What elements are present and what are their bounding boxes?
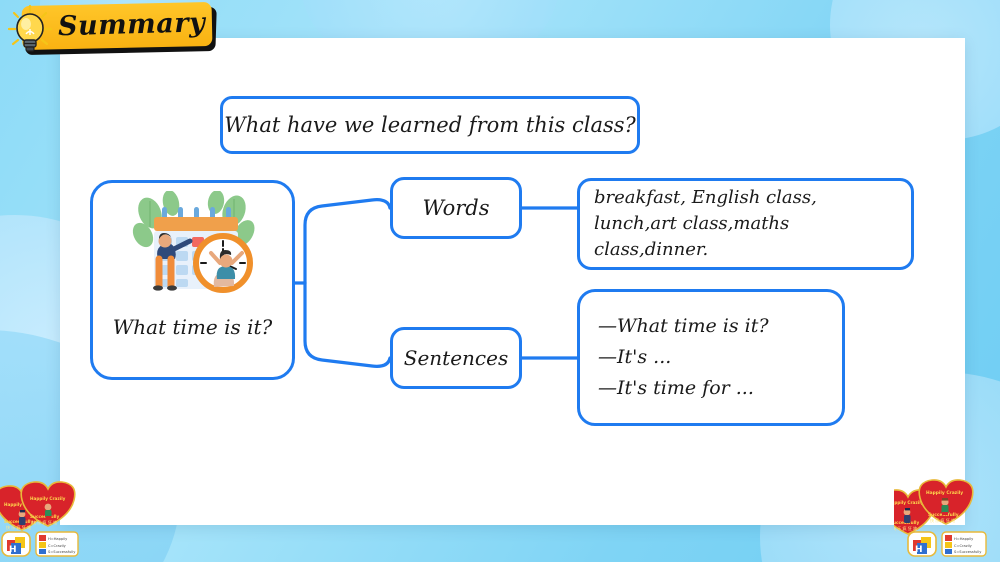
svg-text:快 乐 疯 狂 地: 快 乐 疯 狂 地: [6, 524, 31, 530]
svg-text:Happily Crazily: Happily Crazily: [30, 496, 66, 501]
lightbulb-icon: [6, 4, 54, 56]
branch-sentences-box: Sentences: [390, 327, 522, 389]
words-content-box: breakfast, English class, lunch,art clas…: [577, 178, 914, 270]
badge-cluster-right: Happily Crazily Successfully 快 乐 疯 狂 地 H…: [894, 470, 1000, 562]
sentence-line-3: —It's time for ...: [598, 373, 754, 404]
svg-text:H: H: [9, 545, 17, 555]
topic-box: What time is it?: [90, 180, 295, 380]
svg-text:H=Happily: H=Happily: [48, 537, 68, 541]
title-question-box: What have we learned from this class?: [220, 96, 640, 154]
branch-sentences-label: Sentences: [404, 346, 508, 370]
svg-text:Successfully: Successfully: [4, 519, 33, 524]
words-line-1: breakfast, English class,: [594, 185, 817, 211]
sentence-line-1: —What time is it?: [598, 311, 769, 342]
svg-text:C=Crazily: C=Crazily: [48, 544, 67, 548]
branch-words-label: Words: [422, 196, 489, 220]
svg-text:H: H: [915, 545, 923, 555]
svg-text:S=Successfully: S=Successfully: [48, 550, 76, 554]
svg-text:S=Successfully: S=Successfully: [954, 550, 982, 554]
branch-words-box: Words: [390, 177, 522, 239]
summary-banner: Summary: [0, 0, 230, 60]
svg-text:Successfully: Successfully: [30, 514, 59, 519]
title-question-text: What have we learned from this class?: [224, 113, 636, 137]
svg-text:H=Happily: H=Happily: [954, 537, 974, 541]
sentence-line-2: —It's ...: [598, 342, 671, 373]
calendar-clock-illustration: [118, 191, 268, 311]
svg-text:快 乐 疯 狂 地: 快 乐 疯 狂 地: [930, 517, 955, 523]
svg-text:快 乐 疯 狂 地: 快 乐 疯 狂 地: [32, 519, 57, 525]
svg-text:Happily Crazily: Happily Crazily: [894, 500, 924, 505]
svg-text:C=Crazily: C=Crazily: [954, 544, 973, 548]
topic-label: What time is it?: [113, 315, 273, 339]
sentences-content-box: —What time is it? —It's ... —It's time f…: [577, 289, 845, 426]
svg-text:快 乐 疯 狂 地: 快 乐 疯 狂 地: [894, 525, 917, 531]
badge-cluster-left: Happily Crazily Successfully 快 乐 疯 狂 地 H…: [0, 470, 102, 562]
banner-title: Summary: [58, 7, 229, 42]
svg-text:Happily Crazily: Happily Crazily: [926, 490, 963, 496]
words-line-2: lunch,art class,maths class,dinner.: [594, 211, 897, 263]
